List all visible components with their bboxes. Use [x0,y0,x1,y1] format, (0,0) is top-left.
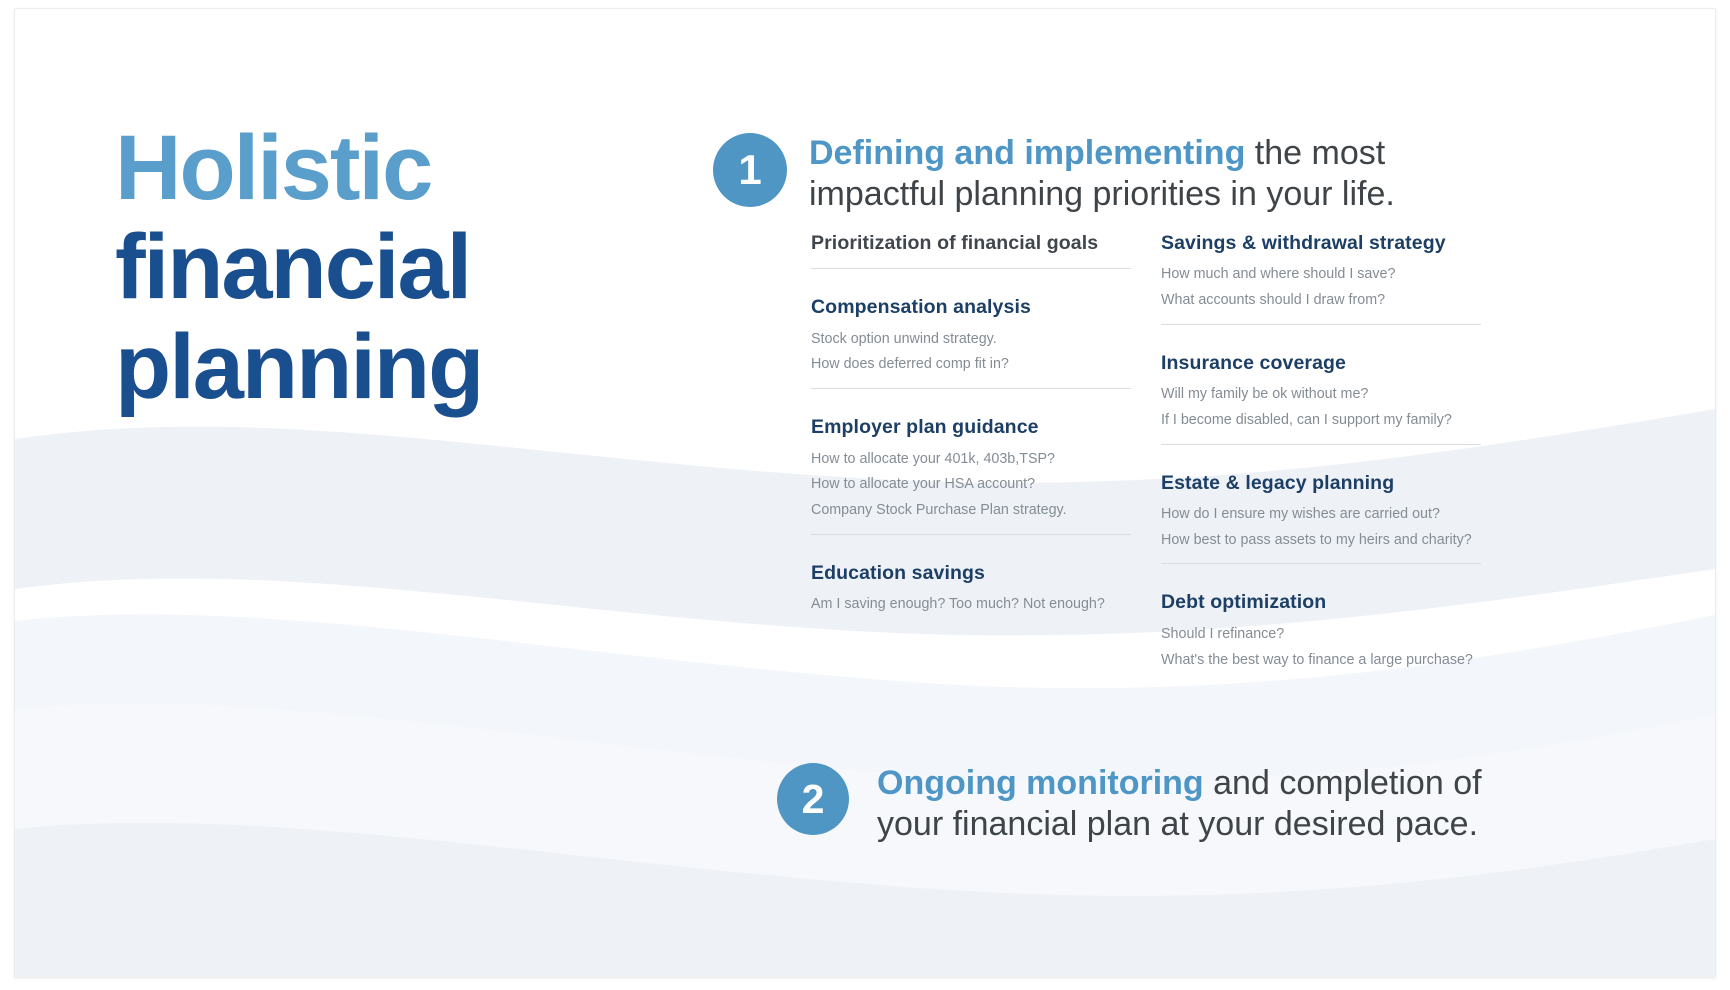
step-1-number-badge: 1 [713,133,787,207]
topic-lines: Will my family be ok without me? If I be… [1161,384,1481,430]
right-column: Savings & withdrawal strategy How much a… [1161,231,1481,675]
topic-line: Should I refinance? [1161,624,1481,645]
topic-heading: Education savings [811,561,1131,585]
title-line-financial: financial [115,218,635,317]
topic-heading: Estate & legacy planning [1161,471,1481,495]
topic-education-savings: Education savings Am I saving enough? To… [811,561,1131,615]
step-1-text: Defining and implementing the most impac… [809,133,1449,216]
topic-lines: Stock option unwind strategy. How does d… [811,329,1131,375]
topic-line: Am I saving enough? Too much? Not enough… [811,594,1131,615]
step-2-number-badge: 2 [777,763,849,835]
topic-line: Company Stock Purchase Plan strategy. [811,500,1131,521]
step-2-accent-text: Ongoing monitoring [877,764,1204,802]
topic-divider [1161,444,1481,445]
topic-line: How to allocate your 401k, 403b,TSP? [811,449,1131,470]
topic-columns: Prioritization of financial goals Compen… [811,231,1591,675]
topic-heading: Debt optimization [1161,590,1481,614]
topic-line: What's the best way to finance a large p… [1161,650,1481,671]
topic-line: Stock option unwind strategy. [811,329,1131,350]
step-2-text: Ongoing monitoring and completion of you… [877,763,1537,846]
topic-lines: How to allocate your 401k, 403b,TSP? How… [811,449,1131,521]
page-title: Holistic financial planning [115,119,635,417]
topic-insurance-coverage: Insurance coverage Will my family be ok … [1161,351,1481,445]
topic-line: Will my family be ok without me? [1161,384,1481,405]
topic-heading: Compensation analysis [811,295,1131,319]
step-2: 2 Ongoing monitoring and completion of y… [777,763,1537,846]
topic-line: How to allocate your HSA account? [811,474,1131,495]
topic-divider [811,268,1131,269]
topic-divider [1161,324,1481,325]
topic-divider [811,534,1131,535]
step-1: 1 Defining and implementing the most imp… [713,133,1449,216]
step-1-accent-text: Defining and implementing [809,134,1245,172]
topic-line: How best to pass assets to my heirs and … [1161,530,1481,551]
topic-line: What accounts should I draw from? [1161,290,1481,311]
topic-lines: Am I saving enough? Too much? Not enough… [811,594,1131,615]
topic-lines: Should I refinance? What's the best way … [1161,624,1481,670]
title-line-planning: planning [115,318,635,417]
topic-line: How does deferred comp fit in? [811,354,1131,375]
topic-savings-withdrawal-strategy: Savings & withdrawal strategy How much a… [1161,231,1481,325]
topic-prioritization-of-financial-goals: Prioritization of financial goals [811,231,1131,269]
topic-estate-legacy-planning: Estate & legacy planning How do I ensure… [1161,471,1481,565]
topic-employer-plan-guidance: Employer plan guidance How to allocate y… [811,415,1131,535]
slide-canvas: Holistic financial planning 1 Defining a… [14,8,1716,978]
topic-lines: How much and where should I save? What a… [1161,264,1481,310]
topic-heading: Insurance coverage [1161,351,1481,375]
topic-lines: How do I ensure my wishes are carried ou… [1161,504,1481,550]
left-column: Prioritization of financial goals Compen… [811,231,1131,675]
topic-heading: Savings & withdrawal strategy [1161,231,1481,255]
topic-line: If I become disabled, can I support my f… [1161,410,1481,431]
topic-debt-optimization: Debt optimization Should I refinance? Wh… [1161,590,1481,670]
topic-divider [811,388,1131,389]
topic-line: How much and where should I save? [1161,264,1481,285]
topic-compensation-analysis: Compensation analysis Stock option unwin… [811,295,1131,389]
topic-heading: Prioritization of financial goals [811,231,1131,255]
title-line-holistic: Holistic [115,119,635,218]
topic-divider [1161,563,1481,564]
topic-heading: Employer plan guidance [811,415,1131,439]
topic-line: How do I ensure my wishes are carried ou… [1161,504,1481,525]
